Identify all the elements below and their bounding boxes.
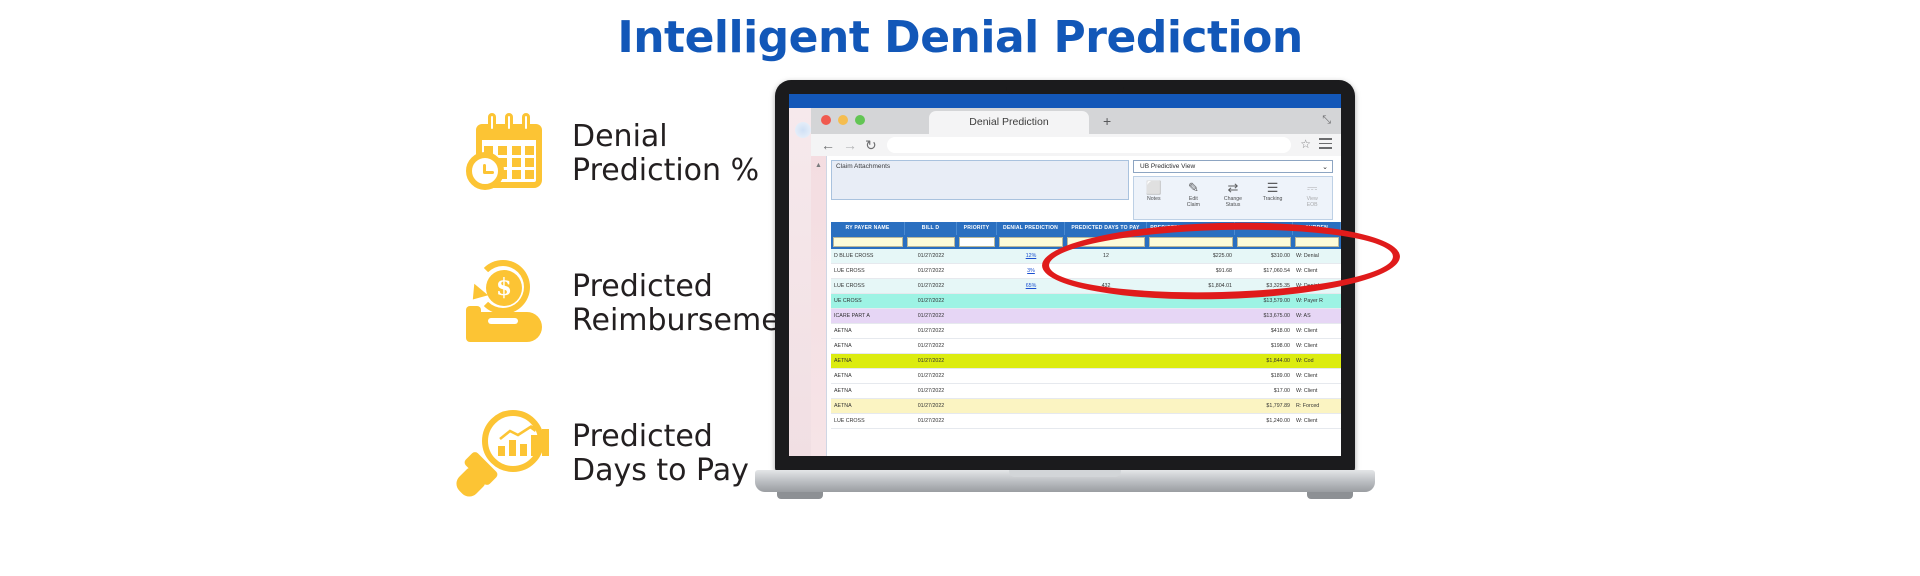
- toolbar-button-tracking[interactable]: ☰Tracking: [1253, 177, 1293, 219]
- cell-days: [1065, 414, 1147, 428]
- cell-days: [1065, 354, 1147, 368]
- new-tab-icon[interactable]: +: [1103, 113, 1111, 129]
- back-icon[interactable]: ←: [821, 137, 835, 153]
- cell-payer: D BLUE CROSS: [831, 249, 905, 263]
- toolbar-button-label: View EOB: [1292, 196, 1332, 208]
- browser-navbar: ← → ↻ ☆: [811, 134, 1341, 156]
- cell-charge: $17,060.54: [1235, 264, 1293, 278]
- cell-charge: $418.00: [1235, 324, 1293, 338]
- cell-status: W: Client: [1293, 324, 1341, 338]
- grid-header-status[interactable]: CURREN: [1293, 222, 1341, 235]
- cell-prio: [957, 369, 997, 383]
- cell-bill: 01/27/2022: [905, 309, 957, 323]
- cell-prio: [957, 264, 997, 278]
- grid-header-payer[interactable]: RY PAYER NAME: [831, 222, 905, 235]
- table-row[interactable]: LUE CROSS01/27/2022$1,240.00W: Client: [831, 414, 1341, 429]
- magnifier-chart-icon: [452, 408, 556, 500]
- claims-grid: RY PAYER NAMEBILL DPRIORITYDENIAL PREDIC…: [831, 222, 1341, 456]
- cell-status: W: Client: [1293, 369, 1341, 383]
- cell-bill: 01/27/2022: [905, 369, 957, 383]
- toolbar-button-notes[interactable]: ⬜Notes: [1134, 177, 1174, 219]
- cell-denial: [997, 309, 1065, 323]
- cell-reimb: [1147, 294, 1235, 308]
- cell-status: W: Denial: [1293, 279, 1341, 293]
- browser-menu-icon[interactable]: [1319, 138, 1332, 149]
- cell-status: W: Denial: [1293, 249, 1341, 263]
- cell-reimb: [1147, 339, 1235, 353]
- minimize-window-icon[interactable]: [838, 115, 848, 125]
- cell-payer: LUE CROSS: [831, 414, 905, 428]
- toolbar-button-label: Change Status: [1213, 196, 1253, 208]
- claim-attachments-panel[interactable]: Claim Attachments: [831, 160, 1129, 200]
- cell-bill: 01/27/2022: [905, 279, 957, 293]
- cell-denial: [997, 399, 1065, 413]
- cell-bill: 01/27/2022: [905, 354, 957, 368]
- cell-charge: $1,844.00: [1235, 354, 1293, 368]
- cell-denial: 3%: [997, 264, 1065, 278]
- toolbar-button-label: Tracking: [1253, 196, 1293, 202]
- cell-reimb: [1147, 399, 1235, 413]
- view-selector-value: UB Predictive View: [1140, 163, 1195, 170]
- cell-payer: LUE CROSS: [831, 264, 905, 278]
- grid-filter-bill[interactable]: [907, 237, 955, 247]
- hand-money-refund-icon: $: [452, 258, 556, 350]
- browser-tab[interactable]: Denial Prediction: [929, 111, 1089, 134]
- cell-reimb: $91.68: [1147, 264, 1235, 278]
- cell-prio: [957, 339, 997, 353]
- cell-payer: ICARE PART A: [831, 309, 905, 323]
- laptop-foot-right: [1307, 492, 1353, 499]
- chevron-down-icon[interactable]: ⌄: [1322, 162, 1328, 174]
- table-row[interactable]: AETNA01/27/2022$1,844.00W: Cod: [831, 354, 1341, 369]
- tracking-icon: ☰: [1253, 180, 1293, 195]
- cell-reimb: [1147, 369, 1235, 383]
- claim-attachments-label: Claim Attachments: [836, 163, 890, 170]
- calendar-clock-icon: [452, 108, 556, 200]
- cell-payer: AETNA: [831, 369, 905, 383]
- browser-tabbar: Denial Prediction + ⤡: [811, 108, 1341, 134]
- grid-header-reimb[interactable]: PREDICTED REIMBURSEMENT: [1147, 222, 1235, 235]
- denial-prediction-link[interactable]: 12%: [1026, 253, 1037, 259]
- cell-payer: AETNA: [831, 399, 905, 413]
- view-eob-icon: ⎓: [1292, 180, 1332, 195]
- cell-bill: 01/27/2022: [905, 264, 957, 278]
- grid-header-prio[interactable]: PRIORITY: [957, 222, 997, 235]
- grid-filter-reimb[interactable]: [1149, 237, 1233, 247]
- cell-status: W: Client: [1293, 264, 1341, 278]
- cell-prio: [957, 294, 997, 308]
- cell-reimb: $1,804.01: [1147, 279, 1235, 293]
- cell-bill: 01/27/2022: [905, 249, 957, 263]
- claims-application: ▲ Claim Attachments UB Predictive View ⌄…: [811, 156, 1341, 456]
- cell-status: R: Forced: [1293, 399, 1341, 413]
- cell-prio: [957, 324, 997, 338]
- slide-root: Intelligent Denial Prediction: [0, 0, 1920, 576]
- grid-filter-prio[interactable]: [959, 237, 995, 247]
- cell-days: [1065, 264, 1147, 278]
- feature-label: Predicted Days to Pay: [572, 420, 749, 487]
- cell-reimb: [1147, 354, 1235, 368]
- toolbar-button-edit-claim[interactable]: ✎Edit Claim: [1174, 177, 1214, 219]
- cell-denial: [997, 324, 1065, 338]
- table-row[interactable]: AETNA01/27/2022$198.00W: Client: [831, 339, 1341, 354]
- edit-claim-icon: ✎: [1174, 180, 1214, 195]
- cell-payer: UE CROSS: [831, 294, 905, 308]
- cell-charge: $3,325.35: [1235, 279, 1293, 293]
- cell-status: W: Cod: [1293, 354, 1341, 368]
- cell-reimb: [1147, 309, 1235, 323]
- cell-days: [1065, 399, 1147, 413]
- grid-filter-row[interactable]: [831, 235, 1341, 249]
- bookmark-star-icon[interactable]: ☆: [1300, 137, 1311, 151]
- maximize-window-icon[interactable]: [855, 115, 865, 125]
- notes-icon: ⬜: [1134, 180, 1174, 195]
- grid-filter-status[interactable]: [1295, 237, 1339, 247]
- table-row[interactable]: LUE CROSS01/27/20223%$91.68$17,060.54W: …: [831, 264, 1341, 279]
- cell-days: [1065, 309, 1147, 323]
- cell-payer: AETNA: [831, 384, 905, 398]
- laptop-base: [755, 470, 1375, 492]
- grid-header-days[interactable]: PREDICTED DAYS TO PAY: [1065, 222, 1147, 235]
- cell-prio: [957, 414, 997, 428]
- cell-charge: $13,675.00: [1235, 309, 1293, 323]
- cell-charge: $1,797.89: [1235, 399, 1293, 413]
- cell-payer: AETNA: [831, 339, 905, 353]
- table-row[interactable]: D BLUE CROSS01/27/202212%12$225.00$310.0…: [831, 249, 1341, 264]
- feature-label: Denial Prediction %: [572, 120, 759, 187]
- grid-header-charge[interactable]: TAL CHARGE: [1235, 222, 1293, 235]
- cell-days: 432: [1065, 279, 1147, 293]
- window-traffic-lights[interactable]: [821, 115, 865, 125]
- cell-charge: $17.00: [1235, 384, 1293, 398]
- cell-days: [1065, 324, 1147, 338]
- laptop-screen: Denial Prediction + ⤡ ← → ↻ ☆ ▲: [789, 94, 1341, 456]
- cell-status: W: Payer R: [1293, 294, 1341, 308]
- cell-status: W: Client: [1293, 339, 1341, 353]
- toolbar-button-label: Notes: [1134, 196, 1174, 202]
- laptop-lid: Denial Prediction + ⤡ ← → ↻ ☆ ▲: [775, 80, 1355, 472]
- reload-icon[interactable]: ↻: [865, 137, 877, 154]
- cell-denial: 65%: [997, 279, 1065, 293]
- cell-prio: [957, 384, 997, 398]
- toolbar-button-label: Edit Claim: [1174, 196, 1214, 208]
- cell-denial: 12%: [997, 249, 1065, 263]
- expand-window-icon[interactable]: ⤡: [1322, 114, 1331, 127]
- forward-icon[interactable]: →: [843, 137, 857, 153]
- cell-reimb: [1147, 384, 1235, 398]
- table-row[interactable]: AETNA01/27/2022$1,797.89R: Forced: [831, 399, 1341, 414]
- cell-charge: $13,579.00: [1235, 294, 1293, 308]
- cell-status: W: Client: [1293, 384, 1341, 398]
- grid-header-denial[interactable]: DENIAL PREDICTION: [997, 222, 1065, 235]
- cell-charge: $189.00: [1235, 369, 1293, 383]
- cell-reimb: $225.00: [1147, 249, 1235, 263]
- close-window-icon[interactable]: [821, 115, 831, 125]
- cell-denial: [997, 384, 1065, 398]
- cell-prio: [957, 309, 997, 323]
- cell-bill: 01/27/2022: [905, 414, 957, 428]
- laptop-foot-left: [777, 492, 823, 499]
- grid-filter-payer[interactable]: [833, 237, 903, 247]
- table-row[interactable]: AETNA01/27/2022$189.00W: Client: [831, 369, 1341, 384]
- laptop-notch: [1006, 83, 1124, 94]
- cell-reimb: [1147, 414, 1235, 428]
- cell-bill: 01/27/2022: [905, 324, 957, 338]
- denial-prediction-link[interactable]: 65%: [1026, 283, 1037, 289]
- cell-charge: $1,240.00: [1235, 414, 1293, 428]
- cell-denial: [997, 294, 1065, 308]
- laptop-mockup: Denial Prediction + ⤡ ← → ↻ ☆ ▲: [755, 80, 1375, 500]
- table-row[interactable]: LUE CROSS01/27/202265%432$1,804.01$3,325…: [831, 279, 1341, 294]
- action-toolbar: ⬜Notes✎Edit Claim⇄Change Status☰Tracking…: [1133, 176, 1333, 220]
- cell-days: 12: [1065, 249, 1147, 263]
- cell-charge: $198.00: [1235, 339, 1293, 353]
- cell-days: [1065, 384, 1147, 398]
- cell-prio: [957, 354, 997, 368]
- cell-status: W: AS: [1293, 309, 1341, 323]
- cell-prio: [957, 249, 997, 263]
- left-rail: ▲: [811, 156, 827, 456]
- toolbar-button-view-eob[interactable]: ⎓View EOB: [1292, 177, 1332, 219]
- table-row[interactable]: ICARE PART A01/27/2022$13,675.00W: AS: [831, 309, 1341, 324]
- address-bar[interactable]: [887, 137, 1291, 153]
- cell-days: [1065, 294, 1147, 308]
- view-selector-dropdown[interactable]: UB Predictive View ⌄: [1133, 160, 1333, 173]
- cell-status: W: Client: [1293, 414, 1341, 428]
- grid-filter-denial[interactable]: [999, 237, 1063, 247]
- grid-filter-charge[interactable]: [1237, 237, 1291, 247]
- cell-bill: 01/27/2022: [905, 399, 957, 413]
- cell-bill: 01/27/2022: [905, 339, 957, 353]
- grid-filter-days[interactable]: [1067, 237, 1145, 247]
- grid-body: D BLUE CROSS01/27/202212%12$225.00$310.0…: [831, 249, 1341, 429]
- cell-reimb: [1147, 324, 1235, 338]
- cell-bill: 01/27/2022: [905, 384, 957, 398]
- cell-charge: $310.00: [1235, 249, 1293, 263]
- cell-payer: LUE CROSS: [831, 279, 905, 293]
- cell-days: [1065, 369, 1147, 383]
- cell-bill: 01/27/2022: [905, 294, 957, 308]
- cell-denial: [997, 354, 1065, 368]
- table-row[interactable]: AETNA01/27/2022$17.00W: Client: [831, 384, 1341, 399]
- cell-denial: [997, 369, 1065, 383]
- page-title: Intelligent Denial Prediction: [0, 12, 1920, 63]
- cell-denial: [997, 414, 1065, 428]
- table-row[interactable]: UE CROSS01/27/2022$13,579.00W: Payer R: [831, 294, 1341, 309]
- grid-header-bill[interactable]: BILL D: [905, 222, 957, 235]
- cell-prio: [957, 279, 997, 293]
- grid-header-row: RY PAYER NAMEBILL DPRIORITYDENIAL PREDIC…: [831, 222, 1341, 235]
- toolbar-button-change-status[interactable]: ⇄Change Status: [1213, 177, 1253, 219]
- cell-days: [1065, 339, 1147, 353]
- cell-prio: [957, 399, 997, 413]
- cell-payer: AETNA: [831, 354, 905, 368]
- cell-payer: AETNA: [831, 324, 905, 338]
- denial-prediction-link[interactable]: 3%: [1027, 268, 1035, 274]
- cell-denial: [997, 339, 1065, 353]
- change-status-icon: ⇄: [1213, 180, 1253, 195]
- table-row[interactable]: AETNA01/27/2022$418.00W: Client: [831, 324, 1341, 339]
